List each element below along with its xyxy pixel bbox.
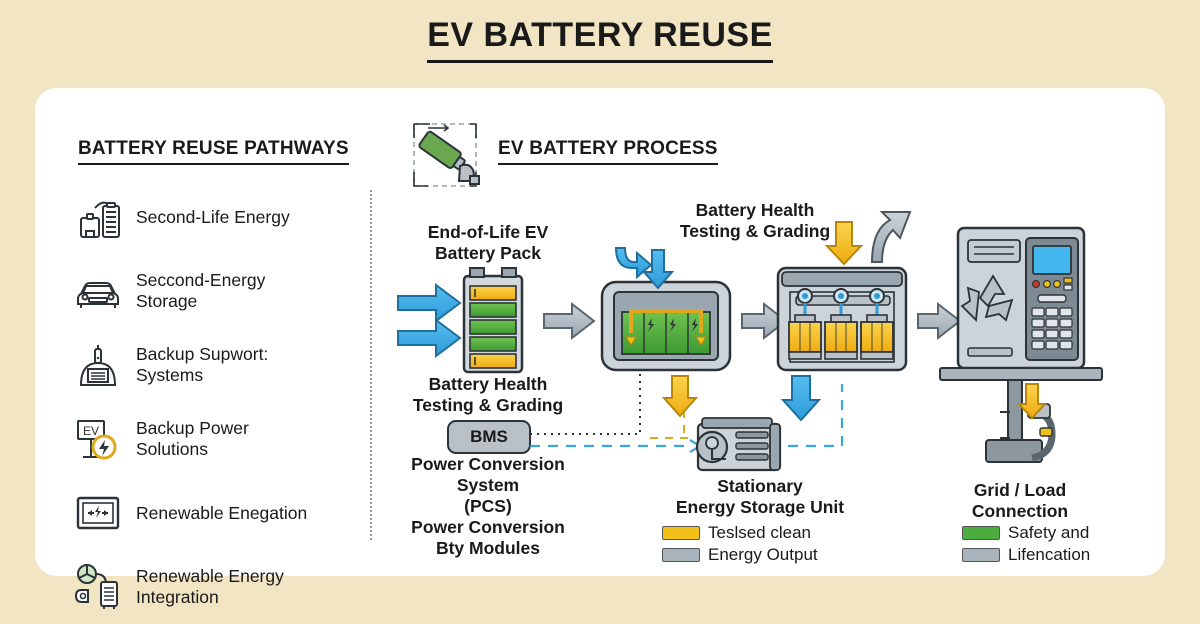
legend-item: Safety and <box>962 522 1090 544</box>
legend-left: Teslsed clean Energy Output <box>662 522 818 566</box>
legend-swatch-steel <box>962 548 1000 562</box>
testing-module-node <box>602 282 730 370</box>
flow-arrow-1 <box>544 304 594 338</box>
process-flow-diagram <box>0 0 1200 600</box>
legend-swatch-green <box>962 526 1000 540</box>
inlet-arrow-bottom <box>398 320 460 356</box>
battery-pack-node <box>464 268 522 372</box>
legend-label: Lifencation <box>1008 544 1090 566</box>
legend-swatch-steel <box>662 548 700 562</box>
bms-dotted-connector <box>530 374 640 434</box>
legend-right: Safety and Lifencation <box>962 522 1090 566</box>
legend-item: Teslsed clean <box>662 522 818 544</box>
storage-yellow-dashed <box>650 410 690 438</box>
storage-yellow-arrow <box>664 376 696 416</box>
legend-label: Teslsed clean <box>708 522 811 544</box>
stationary-storage-node <box>697 418 780 470</box>
inlet-arrow-top <box>398 285 460 321</box>
legend-item: Energy Output <box>662 544 818 566</box>
flow-arrow-3 <box>918 304 960 338</box>
legend-item: Lifencation <box>962 544 1090 566</box>
legend-label: Energy Output <box>708 544 818 566</box>
legend-label: Safety and <box>1008 522 1089 544</box>
cell-sorting-node <box>778 268 906 370</box>
stage3-yellow-inlet-arrow <box>827 222 861 264</box>
legend-swatch-yellow <box>662 526 700 540</box>
grid-connection-node <box>940 228 1102 462</box>
storage-blue-arrow <box>783 376 819 420</box>
stage3-recycle-out-arrow <box>872 212 910 262</box>
